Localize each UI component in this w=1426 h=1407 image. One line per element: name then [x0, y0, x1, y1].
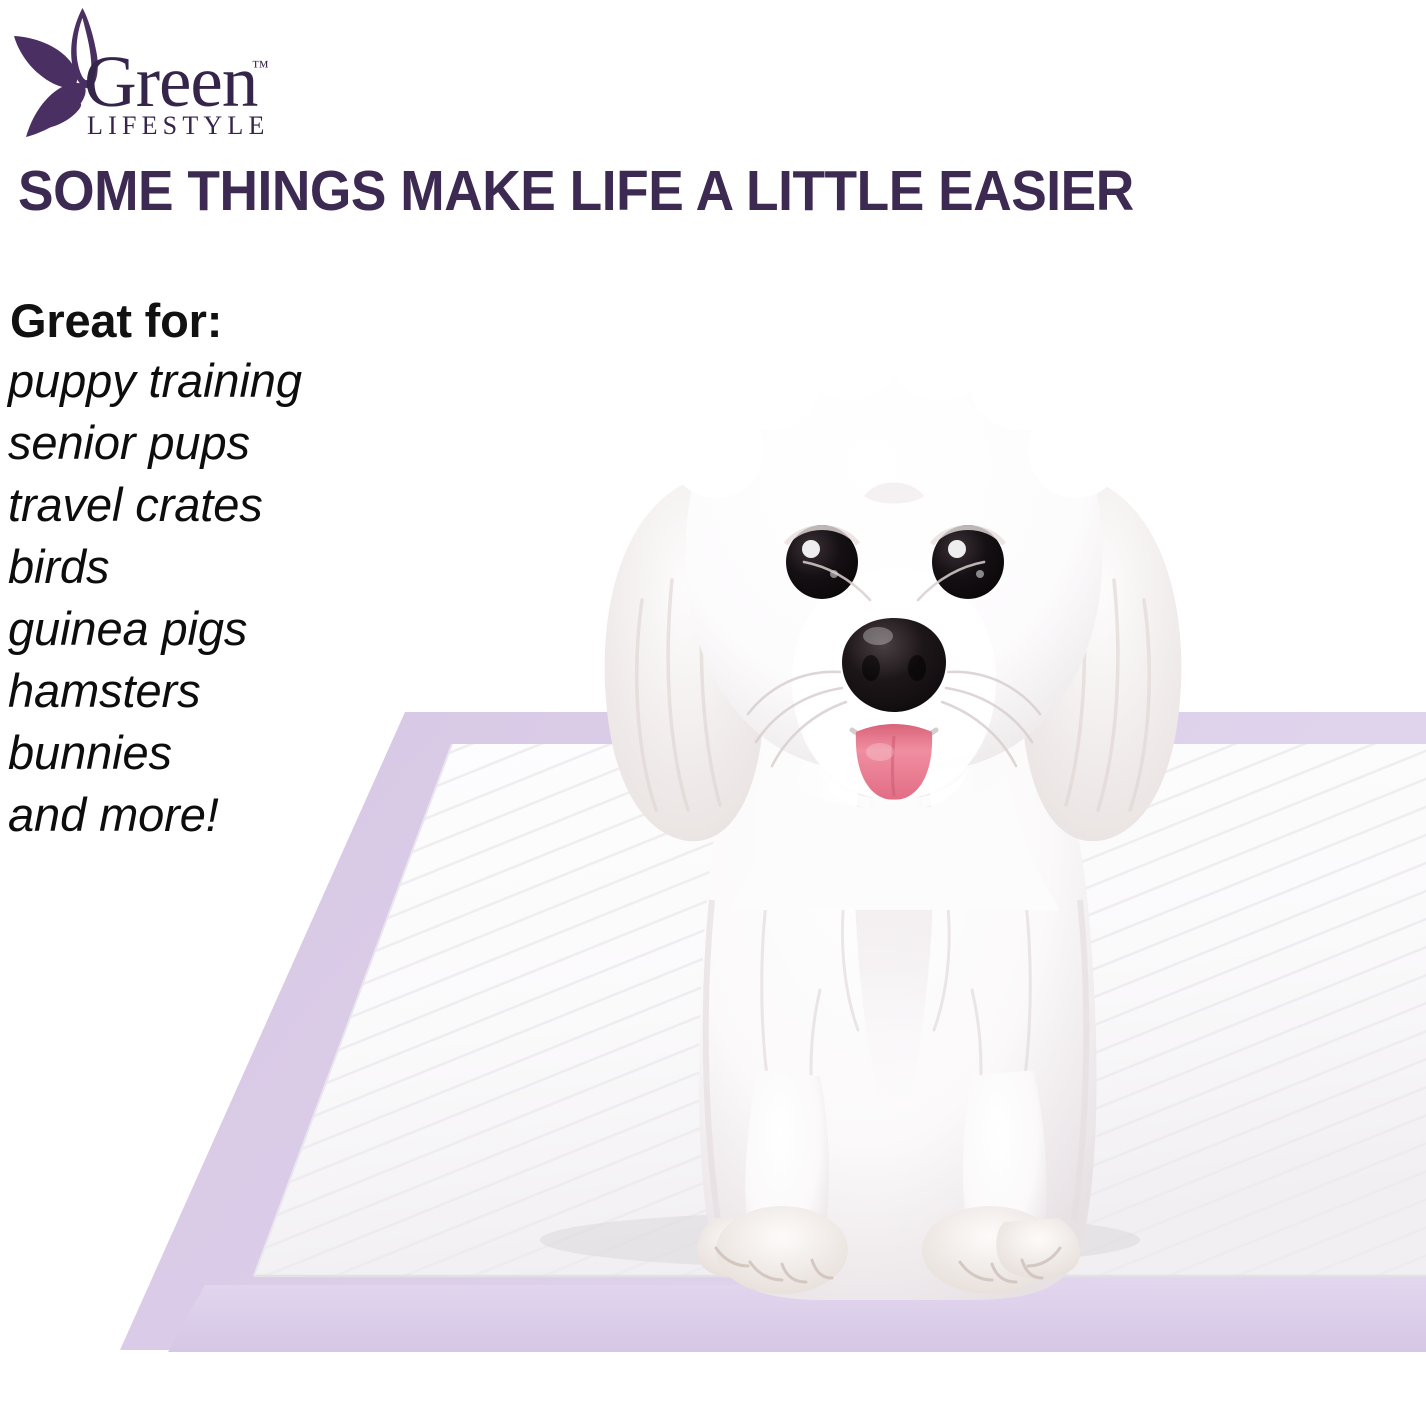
list-item: travel crates [8, 474, 302, 536]
svg-text:Green: Green [84, 41, 258, 122]
product-infographic: Green ™ LIFESTYLE SOME THINGS MAKE LIFE … [0, 0, 1426, 1407]
svg-text:™: ™ [252, 57, 269, 76]
list-item: puppy training [8, 350, 302, 412]
great-for-label: Great for: [10, 293, 222, 349]
page-title: SOME THINGS MAKE LIFE A LITTLE EASIER [18, 160, 1318, 222]
svg-text:LIFESTYLE: LIFESTYLE [87, 111, 270, 140]
brand-wordmark: Green ™ LIFESTYLE [84, 41, 270, 140]
list-item: senior pups [8, 412, 302, 474]
list-item: birds [8, 536, 302, 598]
brand-logo: Green ™ LIFESTYLE [8, 6, 274, 140]
paw-front-right [996, 1218, 1080, 1278]
puppy-photo [520, 300, 1260, 1310]
